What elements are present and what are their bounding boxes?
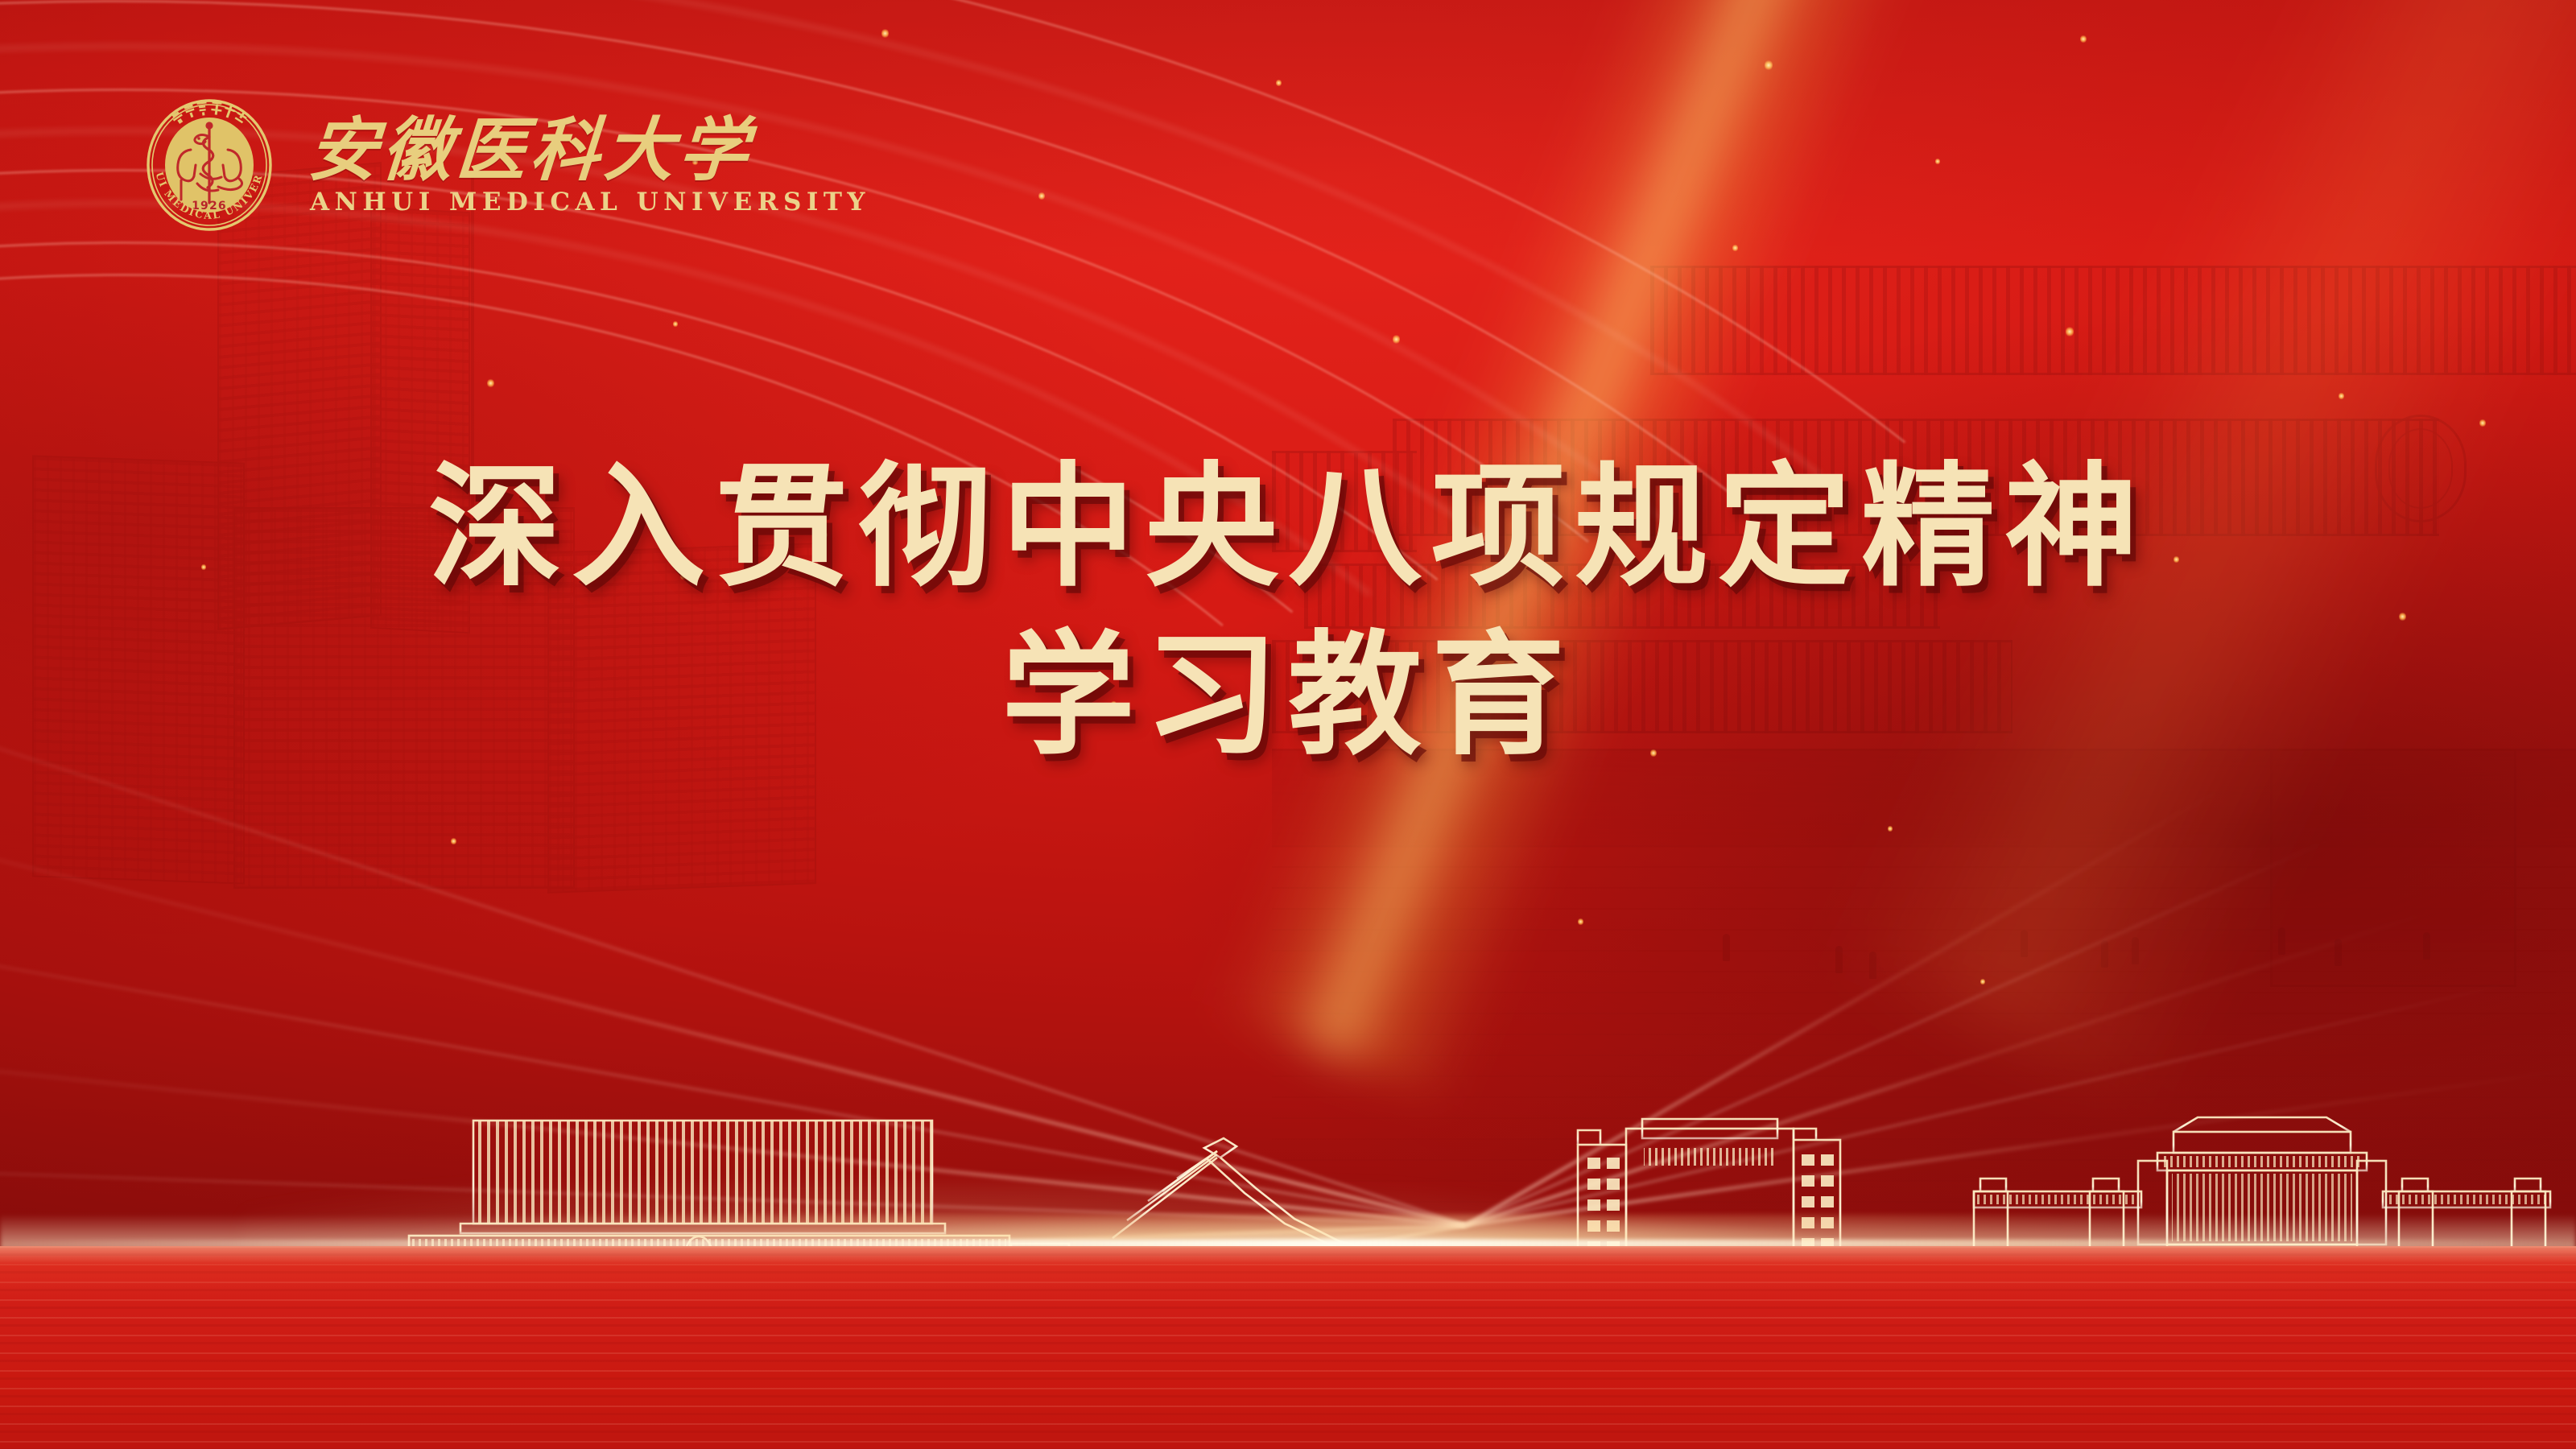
banner-canvas: 1926 ANHUI MEDICAL UNIVERSITY 安徽医科大学 ANH… [0,0,2576,1449]
ground-plane [0,1246,2576,1449]
university-wordmark: 安徽医科大学 ANHUI MEDICAL UNIVERSITY [308,116,870,215]
banner-title: 深入贯彻中央八项规定精神 学习教育 [0,451,2576,774]
title-line-2: 学习教育 [0,619,2576,774]
title-line-1: 深入贯彻中央八项规定精神 [0,451,2576,606]
university-name-english: ANHUI MEDICAL UNIVERSITY [310,190,870,215]
university-logo-lockup[interactable]: 1926 ANHUI MEDICAL UNIVERSITY 安徽医科大学 ANH… [141,97,870,233]
university-name-chinese: 安徽医科大学 [306,116,873,185]
anhui-medical-university-seal-icon: 1926 ANHUI MEDICAL UNIVERSITY [141,97,278,233]
